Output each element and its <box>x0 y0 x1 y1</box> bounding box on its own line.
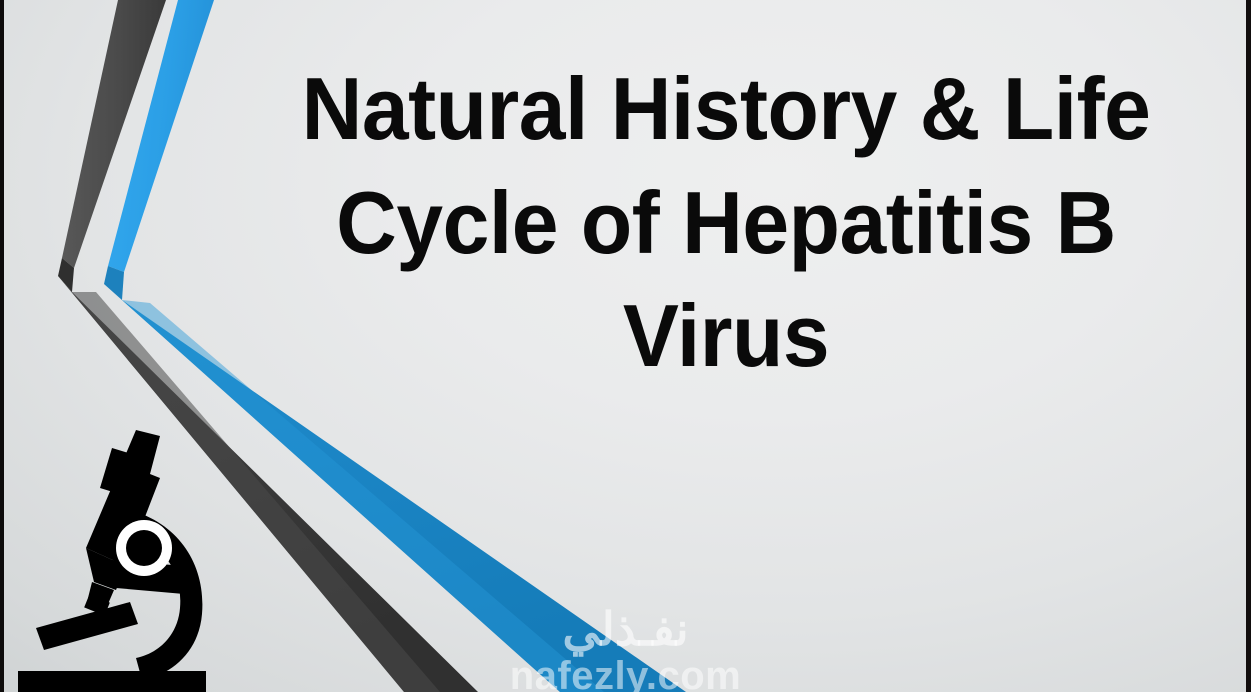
slide-border-right <box>1246 0 1251 692</box>
title-line-1: Natural History & Life <box>273 52 1178 166</box>
slide-border-left <box>0 0 4 692</box>
microscope-icon <box>8 418 218 692</box>
title-line-3: Virus <box>273 279 1178 393</box>
title-line-2: Cycle of Hepatitis B <box>273 166 1178 280</box>
focus-knob-hub <box>126 530 162 566</box>
page-title: Natural History & Life Cycle of Hepatiti… <box>252 52 1200 393</box>
presentation-slide: Natural History & Life Cycle of Hepatiti… <box>0 0 1251 692</box>
